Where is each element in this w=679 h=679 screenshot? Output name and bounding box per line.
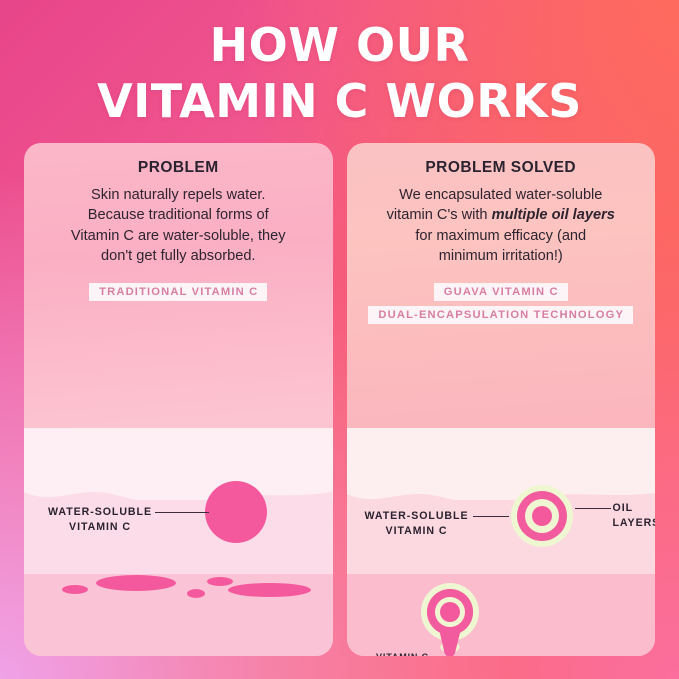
water-soluble-vitamin-c-circle — [205, 481, 267, 543]
solution-card-body: We encapsulated water-soluble vitamin C'… — [361, 185, 642, 267]
solution-badges: GUAVA VITAMIN C DUAL-ENCAPSULATION TECHN… — [361, 282, 642, 328]
body-line-2: Because traditional forms of — [88, 207, 269, 223]
title-line-2: VITAMIN C WORKS — [0, 78, 679, 124]
water-puddle — [207, 577, 233, 586]
body-line-4: minimum irritation!) — [439, 248, 563, 264]
callout-line-2: VITAMIN C — [386, 525, 448, 537]
water-puddle — [187, 589, 205, 598]
solution-card-title: PROBLEM SOLVED — [361, 159, 642, 177]
cards-container: WATER-SOLUBLE VITAMIN C PROBLEM Skin nat… — [24, 143, 655, 656]
body-line-1: Skin naturally repels water. — [91, 187, 265, 203]
encapsulated-vitamin-c-target-large — [511, 485, 573, 547]
badge-traditional-vitamin-c: TRADITIONAL VITAMIN C — [89, 283, 267, 301]
problem-card-title: PROBLEM — [38, 159, 319, 177]
callout-oil-layers: OIL LAYERS — [613, 501, 656, 532]
callout-line-1: WATER-SOLUBLE — [48, 506, 152, 518]
callout-leader-line-left — [473, 516, 509, 517]
solution-card: WATER-SOLUBLE VITAMIN C OIL LAYERS — [347, 143, 656, 656]
problem-card-header: PROBLEM Skin naturally repels water. Bec… — [24, 143, 333, 305]
vitamin-c-core — [532, 506, 552, 526]
callout-line-1: WATER-SOLUBLE — [365, 510, 469, 522]
callout-leader-line-right — [575, 508, 611, 509]
body-line-3: for maximum efficacy (and — [415, 228, 586, 244]
body-line-4: don't get fully absorbed. — [101, 248, 256, 264]
problem-card: WATER-SOLUBLE VITAMIN C PROBLEM Skin nat… — [24, 143, 333, 656]
water-puddle — [96, 575, 176, 591]
body-line-1: We encapsulated water-soluble — [399, 187, 602, 203]
page-title: HOW OUR VITAMIN C WORKS — [0, 22, 679, 124]
callout-water-soluble-vitamin-c: WATER-SOLUBLE VITAMIN C — [46, 505, 154, 536]
body-line-3: Vitamin C are water-soluble, they — [71, 228, 286, 244]
water-puddle — [62, 585, 88, 594]
body-line-2-emphasis: multiple oil layers — [492, 207, 615, 223]
infographic-canvas: HOW OUR VITAMIN C WORKS WATER-SOL — [0, 0, 679, 679]
badge-dual-encapsulation-technology: DUAL-ENCAPSULATION TECHNOLOGY — [368, 306, 633, 324]
title-line-1: HOW OUR — [0, 22, 679, 68]
callout-line-2: VITAMIN C — [69, 521, 131, 533]
callout-leader-line — [155, 512, 209, 513]
penetrating-capsule-large — [413, 579, 487, 656]
callout-line-2: LAYERS — [613, 517, 656, 529]
callout-water-soluble-vitamin-c: WATER-SOLUBLE VITAMIN C — [363, 509, 471, 540]
callout-line-1: OIL — [613, 502, 634, 514]
callout-vitamin-c: VITAMIN C — [359, 651, 447, 656]
badge-guava-vitamin-c: GUAVA VITAMIN C — [434, 283, 568, 301]
water-puddle — [228, 583, 311, 597]
problem-badges: TRADITIONAL VITAMIN C — [38, 282, 319, 305]
problem-card-body: Skin naturally repels water. Because tra… — [38, 185, 319, 267]
solution-card-header: PROBLEM SOLVED We encapsulated water-sol… — [347, 143, 656, 328]
body-line-2-pre: vitamin C's with — [387, 207, 492, 223]
